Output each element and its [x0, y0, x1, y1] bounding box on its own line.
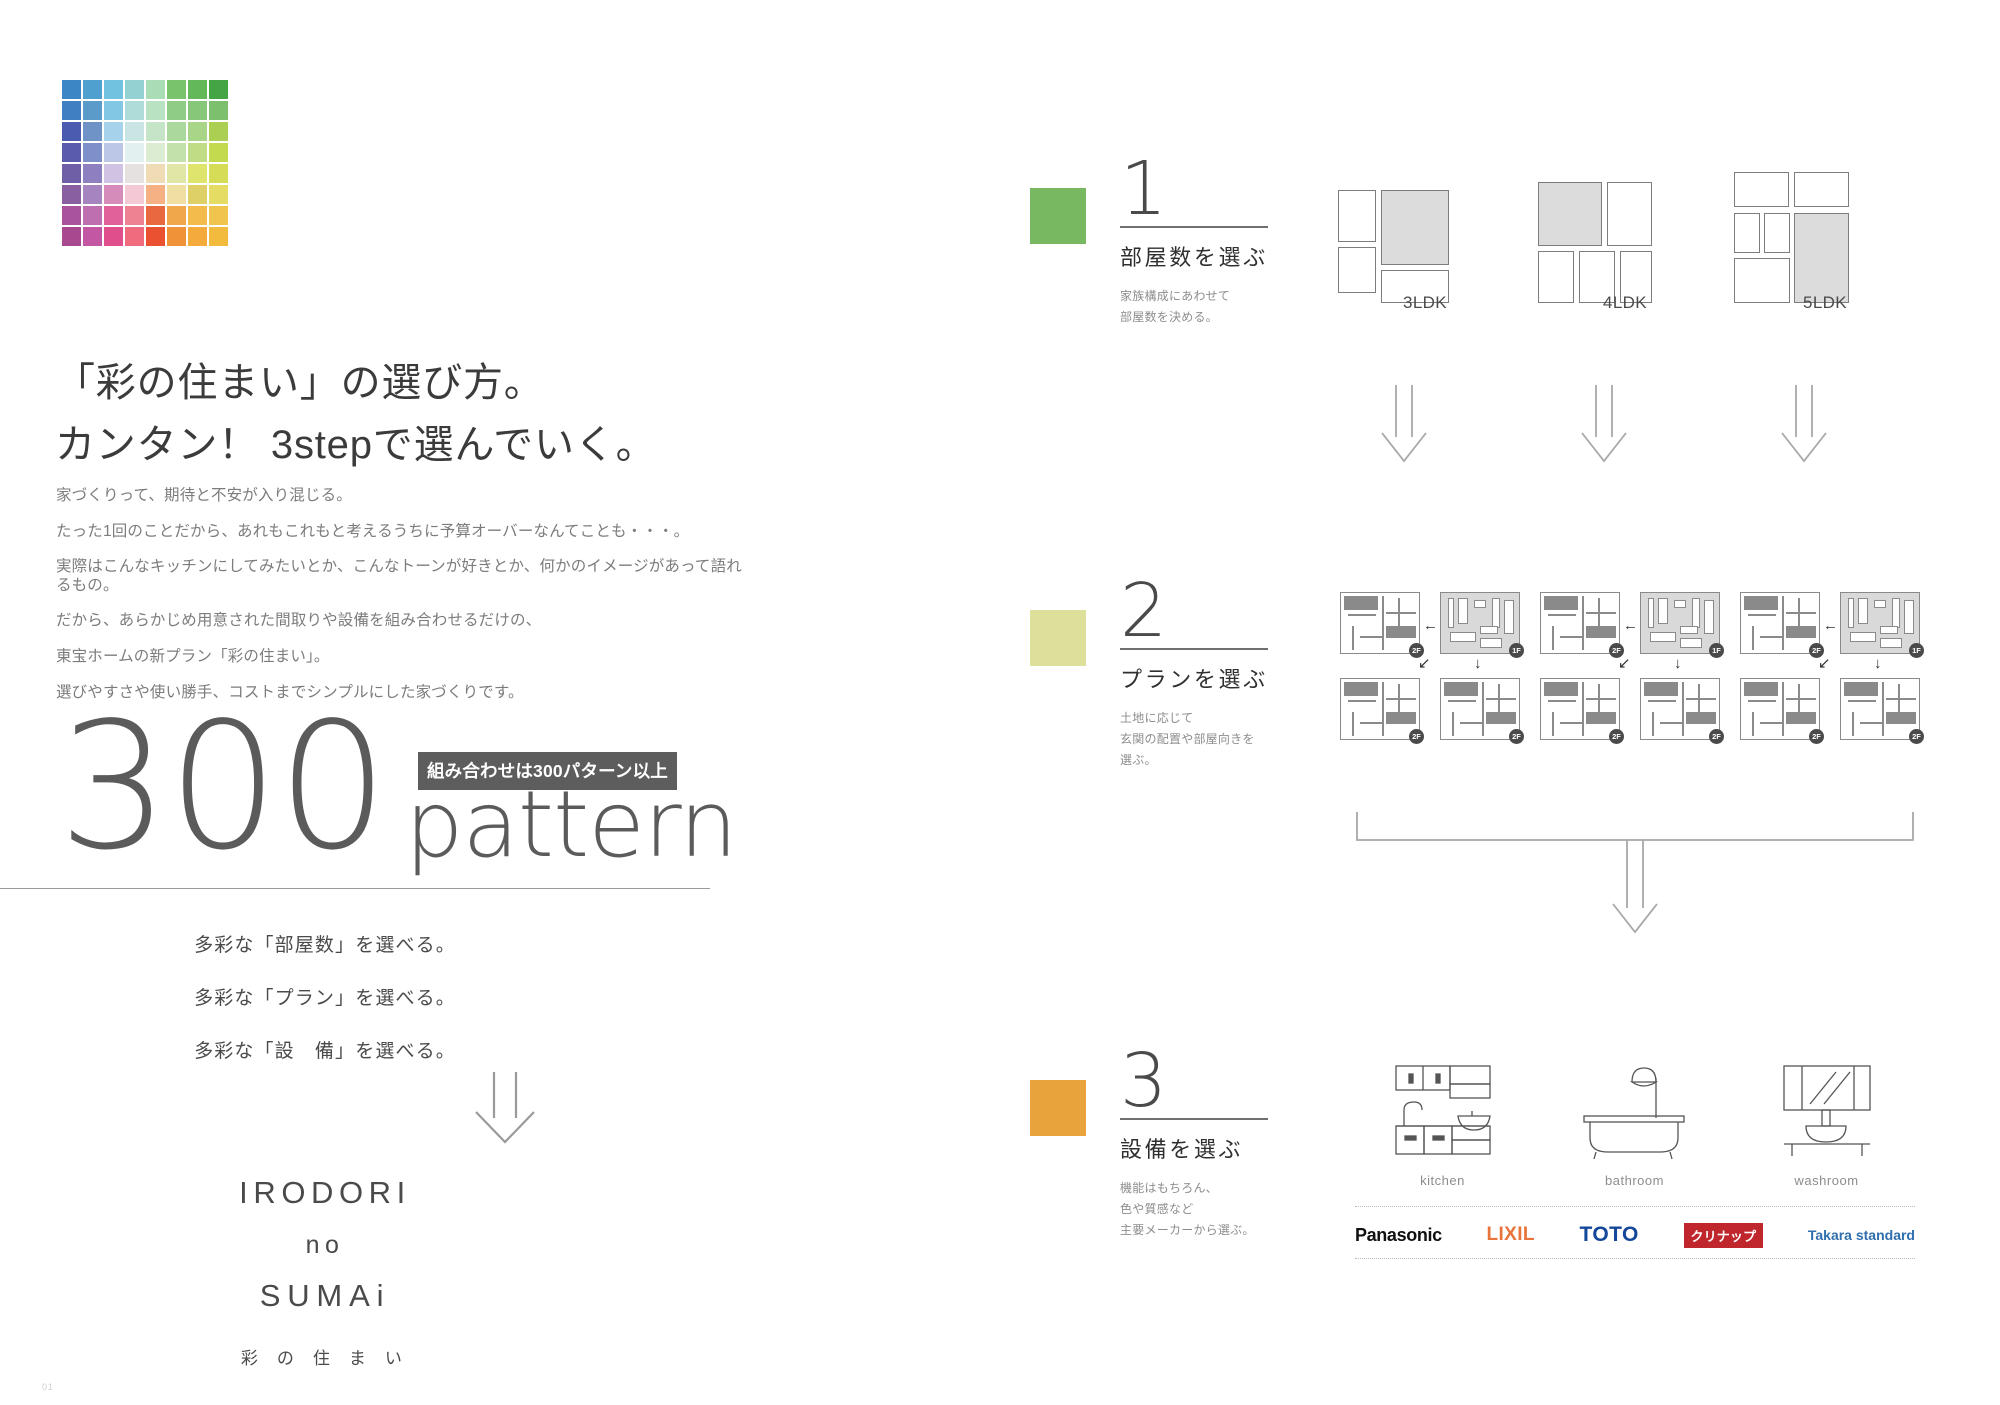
floor-plan-partition [1782, 682, 1784, 736]
floor-plan-partition [1348, 614, 1376, 616]
brandmark-irodori: IRODORI [0, 1175, 650, 1211]
color-swatch [83, 143, 102, 162]
floor-plan-partition [1486, 712, 1516, 724]
floor-plan-partition [1644, 682, 1678, 696]
headline-line-1: 「彩の住まい」の選び方。 [55, 352, 755, 414]
floor-plan-partition [1344, 682, 1378, 696]
brandmark-no: no [0, 1231, 650, 1260]
floor-plan-partition [1860, 722, 1884, 724]
floor-plan-partition [1386, 612, 1416, 614]
floor-plan-partition [1480, 626, 1498, 634]
color-swatch [188, 80, 207, 99]
floor-plan-partition [1582, 682, 1584, 736]
feature-bullet: 多彩な「プラン」を選べる。 [0, 983, 650, 1010]
equipment-bathroom: bathroom [1547, 1060, 1722, 1188]
down-arrow-icon: ↓ [1674, 656, 1682, 671]
floor-plan-thumbnail: 1F [1440, 592, 1520, 654]
floor-plan-partition [1650, 632, 1676, 642]
ldk-room [1764, 213, 1790, 253]
step-description-line: 家族構成にあわせて [1120, 286, 1280, 307]
merge-connector [1355, 812, 1915, 957]
floor-plan-partition [1386, 712, 1416, 724]
floor-plan-thumbnail: 2F [1740, 592, 1820, 654]
floor-tag-2f: 2F [1709, 729, 1724, 744]
ldk-room [1338, 247, 1376, 293]
color-swatch [167, 206, 186, 225]
floor-plan-partition [1460, 722, 1484, 724]
floor-plan-partition [1704, 600, 1714, 634]
down-arrow-icon: ↓ [1874, 656, 1882, 671]
dotted-divider-top [1355, 1206, 1915, 1207]
feature-bullet-list: 多彩な「部屋数」を選べる。多彩な「プラン」を選べる。多彩な「設 備」を選べる。 [0, 930, 650, 1089]
floor-plan-partition [1552, 712, 1554, 736]
lead-line: だから、あらかじめ用意された間取りや設備を組み合わせるだけの、 [56, 612, 756, 631]
floor-plan-partition [1748, 700, 1776, 702]
step-2-title: プランを選ぶ [1120, 662, 1280, 694]
color-swatch-grid [62, 80, 228, 246]
equipment-icon-row: kitchen bathroom [1355, 1060, 1915, 1210]
floor-plan-partition [1692, 598, 1700, 628]
equipment-caption: washroom [1739, 1173, 1914, 1188]
floor-tag-2f: 2F [1409, 729, 1424, 744]
floor-tag-2f: 2F [1509, 729, 1524, 744]
floor-plan-thumbnail: 1F [1640, 592, 1720, 654]
color-swatch [62, 206, 81, 225]
floor-plan-partition [1858, 598, 1868, 624]
color-swatch [146, 227, 165, 246]
washbasin-icon [1762, 1060, 1892, 1160]
takara-logo: Takara standard [1808, 1227, 1915, 1243]
color-swatch [62, 143, 81, 162]
floor-plan-partition [1898, 684, 1900, 714]
step-description-line: 土地に応じて [1120, 708, 1280, 729]
color-swatch [209, 164, 228, 183]
floor-plan-partition [1874, 600, 1886, 608]
floor-plan-partition [1786, 698, 1816, 700]
ldk-living [1381, 190, 1449, 265]
color-swatch [188, 227, 207, 246]
color-swatch [125, 143, 144, 162]
page-number: 01 [42, 1382, 54, 1392]
floor-plan-partition [1744, 682, 1778, 696]
step-2-color-chip [1030, 610, 1086, 666]
brand-logo-row: PanasonicLIXILTOTOクリナップTakara standard [1355, 1218, 1915, 1252]
color-swatch [83, 164, 102, 183]
step-1-color-chip [1030, 188, 1086, 244]
lead-paragraph: 家づくりって、期待と不安が入り混じる。たった1回のことだから、あれもこれもと考え… [56, 487, 756, 719]
floor-plan-partition [1448, 700, 1476, 702]
floor-plan-partition [1444, 682, 1478, 696]
color-swatch [188, 122, 207, 141]
color-swatch [167, 143, 186, 162]
cleanup-logo: クリナップ [1684, 1223, 1764, 1248]
down-arrow-icon [1378, 385, 1430, 468]
down-arrow-icon [1778, 385, 1830, 468]
color-swatch [83, 80, 102, 99]
floor-plan-partition [1886, 698, 1916, 700]
floor-plan-partition [1680, 638, 1702, 648]
bathtub-icon [1570, 1060, 1700, 1160]
color-swatch [104, 206, 123, 225]
floor-plan-partition [1660, 722, 1684, 724]
color-swatch [146, 164, 165, 183]
floor-plan-partition [1482, 682, 1484, 736]
color-swatch [209, 185, 228, 204]
floor-plan-partition [1586, 698, 1616, 700]
floor-plan-thumbnail: 2F [1340, 592, 1420, 654]
floor-plan-partition [1658, 598, 1668, 624]
floor-plan-thumbnail: 2F [1540, 678, 1620, 740]
down-arrow-icon: ↓ [1474, 656, 1482, 671]
color-swatch [125, 185, 144, 204]
headline-line-2: カンタン！ 3stepで選んでいく。 [55, 414, 755, 476]
pattern-number: 300 [58, 700, 387, 875]
step-description-line: 機能はもちろん、 [1120, 1178, 1280, 1199]
diagonal-arrow-icon: ↙ [1618, 656, 1631, 671]
color-swatch [209, 143, 228, 162]
color-swatch [104, 227, 123, 246]
floor-plan-partition [1748, 614, 1776, 616]
step-description-line: 部屋数を決める。 [1120, 307, 1280, 328]
floor-tag-2f: 2F [1609, 729, 1624, 744]
color-swatch [83, 227, 102, 246]
floor-plan-partition [1760, 636, 1784, 638]
floor-plan-partition [1674, 600, 1686, 608]
color-swatch [209, 227, 228, 246]
color-swatch [209, 206, 228, 225]
floor-plan-partition [1352, 626, 1354, 650]
lead-line: 実際はこんなキッチンにしてみたいとか、こんなトーンが好きとか、何かのイメージがあ… [56, 558, 756, 595]
plan-option-group: 2F1F2F2F←↙↓ [1340, 592, 1530, 742]
ldk-room [1338, 190, 1376, 242]
color-swatch [146, 101, 165, 120]
floor-plan-partition [1844, 682, 1878, 696]
floor-plan-partition [1782, 596, 1784, 650]
floor-plan-partition [1686, 698, 1716, 700]
down-arrow-icon [470, 1070, 540, 1149]
floor-plan-partition [1474, 600, 1486, 608]
floor-plan-partition [1904, 600, 1914, 634]
ldk-diagram-row: 3LDK 4LDK 5LDK [1330, 168, 1950, 318]
floor-plan-partition [1504, 600, 1514, 634]
color-swatch [209, 80, 228, 99]
floor-plan-partition [1486, 698, 1516, 700]
step-1-number: 1 [1120, 154, 1280, 224]
plan-option-group: 2F1F2F2F←↙↓ [1740, 592, 1930, 742]
floor-plan-partition [1652, 712, 1654, 736]
floor-plan-thumbnail: 2F [1340, 678, 1420, 740]
step-2-description: 土地に応じて玄関の配置や部屋向きを選ぶ。 [1120, 708, 1280, 771]
color-swatch [83, 101, 102, 120]
step-description-line: 主要メーカーから選ぶ。 [1120, 1220, 1280, 1241]
floor-plan-partition [1560, 722, 1584, 724]
floor-plan-partition [1880, 638, 1902, 648]
floor-plan-partition [1682, 682, 1684, 736]
color-swatch [125, 101, 144, 120]
step-1-description: 家族構成にあわせて部屋数を決める。 [1120, 286, 1280, 328]
lead-line: 東宝ホームの新プラン「彩の住まい」。 [56, 648, 756, 667]
color-swatch [146, 206, 165, 225]
lead-line: たった1回のことだから、あれもこれもと考えるうちに予算オーバーなんてことも・・・… [56, 523, 756, 542]
floor-tag-1f: 1F [1709, 643, 1724, 658]
color-swatch [146, 143, 165, 162]
floor-plan-thumbnail: 2F [1440, 678, 1520, 740]
floor-plan-partition [1386, 698, 1416, 700]
floor-plan-partition [1544, 682, 1578, 696]
feature-bullet: 多彩な「設 備」を選べる。 [0, 1036, 650, 1063]
color-swatch [83, 206, 102, 225]
floor-plan-partition [1852, 712, 1854, 736]
brandmark: IRODORI no SUMAi 彩 の 住 ま い [0, 1175, 650, 1369]
color-swatch [125, 206, 144, 225]
color-swatch [104, 122, 123, 141]
floor-plan-thumbnail: 2F [1740, 678, 1820, 740]
floor-tag-1f: 1F [1509, 643, 1524, 658]
floor-plan-partition [1382, 682, 1384, 736]
color-swatch [104, 101, 123, 120]
floor-plan-partition [1686, 712, 1716, 724]
color-swatch [62, 185, 81, 204]
floor-plan-partition [1586, 712, 1616, 724]
page-headline: 「彩の住まい」の選び方。 カンタン！ 3stepで選んでいく。 [55, 352, 755, 476]
floor-plan-partition [1798, 684, 1800, 714]
floor-plan-thumbnail: 1F [1840, 592, 1920, 654]
left-arrow-icon: ← [1423, 618, 1438, 633]
floor-plan-partition [1548, 614, 1576, 616]
color-swatch [167, 164, 186, 183]
down-arrow-icon [1578, 385, 1630, 468]
floor-plan-partition [1448, 598, 1454, 628]
color-swatch [83, 185, 102, 204]
floor-plan-partition [1544, 596, 1578, 610]
floor-plan-partition [1848, 598, 1854, 628]
plan-option-group: 2F1F2F2F←↙↓ [1540, 592, 1730, 742]
color-swatch [209, 122, 228, 141]
floor-plan-partition [1498, 684, 1500, 714]
step-3-color-chip [1030, 1080, 1086, 1136]
floor-plan-partition [1344, 596, 1378, 610]
floor-plan-thumbnail: 2F [1540, 592, 1620, 654]
floor-plan-partition [1386, 626, 1416, 638]
color-swatch [167, 80, 186, 99]
step-1-title: 部屋数を選ぶ [1120, 240, 1280, 272]
color-swatch [125, 80, 144, 99]
panasonic-logo: Panasonic [1355, 1225, 1442, 1246]
lixil-logo: LIXIL [1487, 1224, 1535, 1246]
color-swatch [62, 122, 81, 141]
color-swatch [104, 143, 123, 162]
toto-logo: TOTO [1580, 1223, 1639, 1247]
brandmark-japanese: 彩 の 住 ま い [0, 1344, 650, 1369]
color-swatch [167, 227, 186, 246]
step-description-line: 色や質感など [1120, 1199, 1280, 1220]
floor-plan-partition [1360, 636, 1384, 638]
dotted-divider-bottom [1355, 1258, 1915, 1259]
color-swatch [125, 164, 144, 183]
step-description-line: 玄関の配置や部屋向きを [1120, 729, 1280, 750]
equipment-caption: kitchen [1355, 1173, 1530, 1188]
color-swatch [188, 206, 207, 225]
ldk-room [1734, 213, 1760, 253]
floor-plan-partition [1680, 626, 1698, 634]
diagonal-arrow-icon: ↙ [1818, 656, 1831, 671]
floor-plan-partition [1786, 612, 1816, 614]
floor-plan-partition [1598, 598, 1600, 628]
ldk-living [1794, 213, 1849, 303]
floor-plan-partition [1760, 722, 1784, 724]
step-description-line: 選ぶ。 [1120, 750, 1280, 771]
floor-plan-partition [1786, 626, 1816, 638]
floor-plan-partition [1582, 596, 1584, 650]
equipment-washroom: washroom [1739, 1060, 1914, 1188]
equipment-caption: bathroom [1547, 1173, 1722, 1188]
color-swatch [125, 227, 144, 246]
floor-tag-2f: 2F [1809, 729, 1824, 744]
floor-plan-partition [1458, 598, 1468, 624]
ldk-label-4ldk: 4LDK [1530, 293, 1720, 313]
color-swatch [146, 185, 165, 204]
floor-tag-1f: 1F [1909, 643, 1924, 658]
floor-plan-partition [1880, 626, 1898, 634]
floor-plan-partition [1382, 596, 1384, 650]
color-swatch [104, 80, 123, 99]
color-swatch [62, 80, 81, 99]
floor-plan-partition [1360, 722, 1384, 724]
floor-plan-partition [1892, 598, 1900, 628]
floor-plan-partition [1398, 598, 1400, 628]
floor-plan-partition [1452, 712, 1454, 736]
pattern-count-block: 300 組み合わせは300パターン以上 pattern [20, 722, 720, 907]
color-swatch [104, 164, 123, 183]
floor-plan-partition [1492, 598, 1500, 628]
floor-plan-partition [1560, 636, 1584, 638]
step-3-number: 3 [1120, 1046, 1280, 1116]
feature-bullet: 多彩な「部屋数」を選べる。 [0, 930, 650, 957]
floor-plan-partition [1450, 632, 1476, 642]
color-swatch [188, 185, 207, 204]
pattern-word: pattern [405, 779, 737, 871]
floor-plan-partition [1886, 712, 1916, 724]
color-swatch [209, 101, 228, 120]
color-swatch [146, 80, 165, 99]
ldk-label-5ldk: 5LDK [1730, 293, 1920, 313]
floor-plan-partition [1698, 684, 1700, 714]
floor-tag-2f: 2F [1909, 729, 1924, 744]
floor-plan-thumbnail: 2F [1640, 678, 1720, 740]
color-swatch [167, 101, 186, 120]
floor-plan-partition [1586, 626, 1616, 638]
left-arrow-icon: ← [1823, 618, 1838, 633]
color-swatch [83, 122, 102, 141]
ldk-living [1538, 182, 1602, 246]
floor-plan-partition [1882, 682, 1884, 736]
color-swatch [62, 101, 81, 120]
color-swatch [167, 185, 186, 204]
floor-plan-partition [1648, 598, 1654, 628]
color-swatch [104, 185, 123, 204]
kitchen-icon [1378, 1060, 1508, 1160]
ldk-room [1607, 182, 1652, 246]
color-swatch [125, 122, 144, 141]
step-2-number: 2 [1120, 576, 1280, 646]
ldk-label-3ldk: 3LDK [1330, 293, 1520, 313]
floor-plan-partition [1786, 712, 1816, 724]
diagonal-arrow-icon: ↙ [1418, 656, 1431, 671]
color-swatch [62, 164, 81, 183]
left-arrow-icon: ← [1623, 618, 1638, 633]
equipment-kitchen: kitchen [1355, 1060, 1530, 1188]
brandmark-sumai: SUMAi [0, 1278, 650, 1314]
color-swatch [62, 227, 81, 246]
floor-plan-partition [1598, 684, 1600, 714]
color-swatch [167, 122, 186, 141]
ldk-room [1734, 172, 1789, 207]
floor-plan-partition [1752, 712, 1754, 736]
step-3-title: 設備を選ぶ [1120, 1132, 1280, 1164]
lead-line: 家づくりって、期待と不安が入り混じる。 [56, 487, 756, 506]
floor-plan-partition [1752, 626, 1754, 650]
floor-plan-partition [1552, 626, 1554, 650]
color-swatch [188, 164, 207, 183]
floor-plan-partition [1398, 684, 1400, 714]
floor-plan-thumbnail: 2F [1840, 678, 1920, 740]
color-swatch [188, 143, 207, 162]
floor-plan-partition [1548, 700, 1576, 702]
floor-plan-partition [1850, 632, 1876, 642]
floor-plan-partition [1348, 700, 1376, 702]
floor-plan-partition [1648, 700, 1676, 702]
color-swatch [146, 122, 165, 141]
horizontal-divider [0, 888, 710, 889]
step-3-description: 機能はもちろん、色や質感など主要メーカーから選ぶ。 [1120, 1178, 1280, 1241]
floor-plan-partition [1352, 712, 1354, 736]
ldk-room [1794, 172, 1849, 207]
floor-plan-partition [1586, 612, 1616, 614]
brochure-page: 「彩の住まい」の選び方。 カンタン！ 3stepで選んでいく。 家づくりって、期… [0, 0, 2000, 1405]
floor-plan-partition [1848, 700, 1876, 702]
floor-plan-partition [1744, 596, 1778, 610]
floor-plan-partition [1798, 598, 1800, 628]
floor-plan-partition [1480, 638, 1502, 648]
color-swatch [188, 101, 207, 120]
